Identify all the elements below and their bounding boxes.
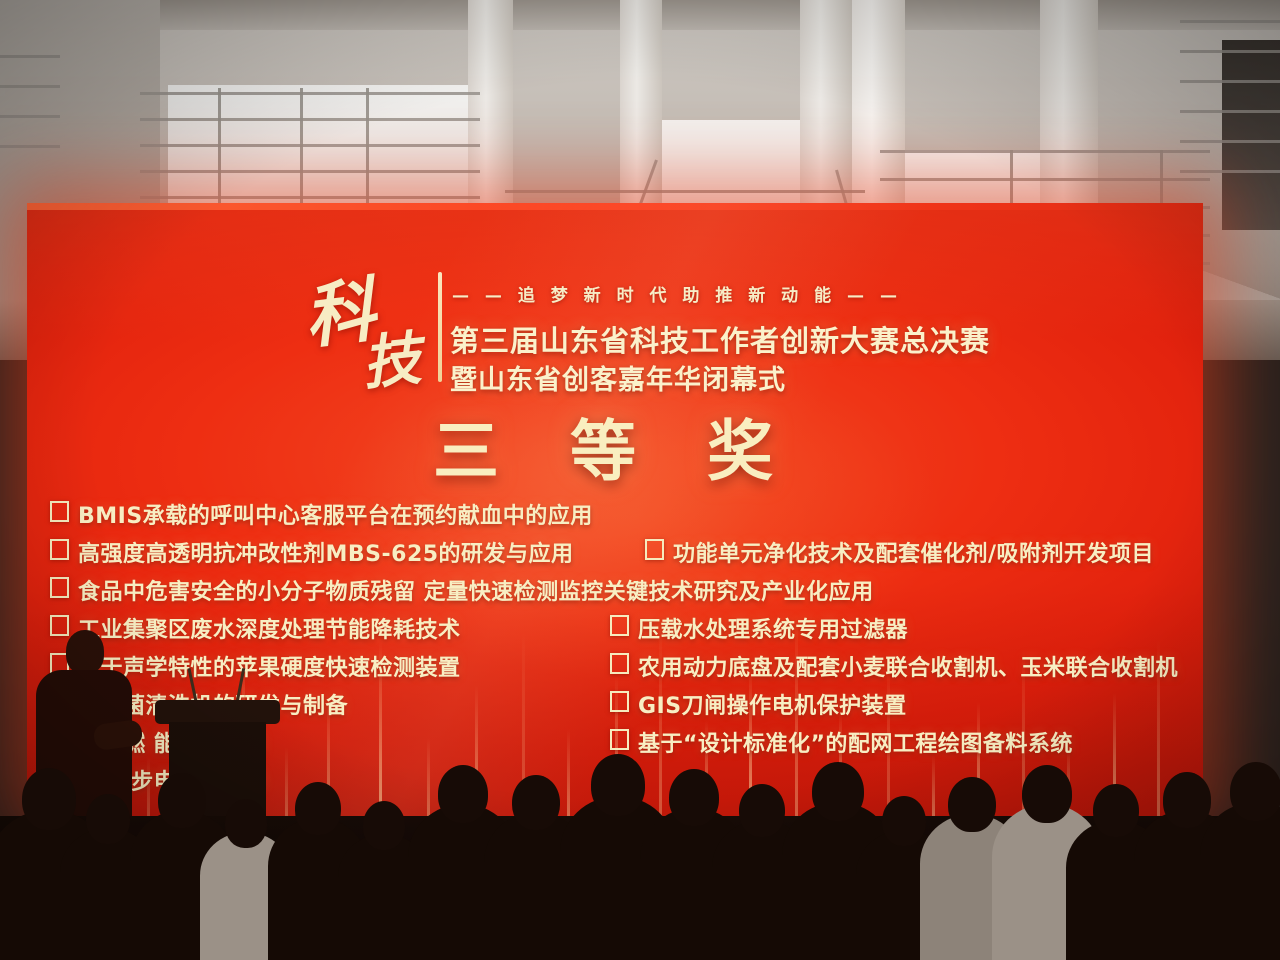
audience-head [882, 796, 926, 847]
audience-head [86, 794, 130, 845]
railing-bar [0, 55, 60, 58]
award-title: 三 等 奖 [0, 398, 1230, 494]
logo-char-ji: 技 [358, 311, 424, 401]
audience-head [363, 801, 405, 850]
railing-bar [0, 145, 60, 148]
event-title-line1: 第三届山东省科技工作者创新大赛总决赛 [450, 318, 990, 360]
project-row: BMIS承载的呼叫中心客服平台在预约献血中的应用 [50, 498, 1210, 536]
project-row: 食品中危害安全的小分子物质残留 定量快速检测监控关键技术研究及产业化应用 [50, 574, 1210, 612]
project-row: 基于声学特性的苹果硬度快速检测装置农用动力底盘及配套小麦联合收割机、玉米联合收割… [50, 650, 1210, 688]
project-item-right: GIS刀闸操作电机保护装置 [610, 688, 907, 720]
railing-bar [140, 144, 480, 147]
audience-head [669, 769, 719, 826]
audience-head [948, 777, 996, 832]
audience-head [438, 765, 489, 823]
audience-member [1200, 802, 1280, 960]
event-tagline: — — 追 梦 新 时 代 助 推 新 动 能 — — [452, 281, 902, 306]
railing-bar [1180, 140, 1280, 143]
audience-head [22, 768, 76, 830]
project-item-right: 基于“设计标准化”的配网工程绘图备料系统 [610, 726, 1073, 758]
railing-bar [140, 118, 480, 121]
railing-bar [140, 170, 480, 173]
railing-bar [1180, 110, 1280, 113]
logo-divider [438, 272, 442, 382]
stair-step [505, 190, 865, 193]
project-item-label: 基于“设计标准化”的配网工程绘图备料系统 [638, 726, 1073, 758]
event-title-line2: 暨山东省创客嘉年华闭幕式 [450, 358, 786, 397]
bullet-box-icon [610, 615, 629, 636]
railing-bar [0, 85, 60, 88]
audience-head [591, 754, 644, 815]
railing-bar [1180, 20, 1280, 23]
railing-bar [1180, 170, 1280, 173]
audience-head [295, 782, 341, 835]
podium-top [155, 700, 280, 724]
audience-head [1163, 772, 1212, 828]
presenter-head [66, 630, 104, 674]
project-item-label: BMIS承载的呼叫中心客服平台在预约献血中的应用 [78, 498, 593, 530]
railing-bar [140, 196, 480, 199]
bullet-box-icon [610, 729, 629, 750]
audience-head [225, 799, 267, 848]
railing-bar [0, 115, 60, 118]
project-item-right: 压载水处理系统专用过滤器 [610, 612, 908, 644]
audience-head [812, 762, 864, 821]
audience-head [1230, 762, 1280, 821]
photo-stage: 科 技 — — 追 梦 新 时 代 助 推 新 动 能 — — 第三届山东省科技… [0, 0, 1280, 960]
railing-bar [140, 92, 480, 95]
bullet-box-icon [50, 539, 69, 560]
audience-head [739, 784, 785, 837]
project-item-right: 功能单元净化技术及配套催化剂/吸附剂开发项目 [645, 536, 1154, 568]
project-item-left: 食品中危害安全的小分子物质残留 定量快速检测监控关键技术研究及产业化应用 [50, 574, 874, 606]
audience-head [1022, 765, 1073, 823]
project-item-label: 压载水处理系统专用过滤器 [638, 612, 908, 644]
project-row: 高强度高透明抗冲改性剂MBS-625的研发与应用功能单元净化技术及配套催化剂/吸… [50, 536, 1210, 574]
audience-head [1093, 784, 1139, 837]
bullet-box-icon [645, 539, 664, 560]
railing-bar [1180, 80, 1280, 83]
project-item-label: 农用动力底盘及配套小麦联合收割机、玉米联合收割机 [638, 650, 1178, 682]
bullet-box-icon [610, 691, 629, 712]
project-row: 工业集聚区废水深度处理节能降耗技术压载水处理系统专用过滤器 [50, 612, 1210, 650]
audience-head [158, 773, 206, 828]
bullet-box-icon [610, 653, 629, 674]
project-item-left: 高强度高透明抗冲改性剂MBS-625的研发与应用 [50, 536, 574, 568]
project-item-label: 食品中危害安全的小分子物质残留 定量快速检测监控关键技术研究及产业化应用 [78, 574, 874, 606]
audience-silhouettes [0, 760, 1280, 960]
project-item-label: 功能单元净化技术及配套催化剂/吸附剂开发项目 [673, 536, 1154, 568]
project-item-right: 农用动力底盘及配套小麦联合收割机、玉米联合收割机 [610, 650, 1178, 682]
bullet-box-icon [50, 501, 69, 522]
project-item-label: 高强度高透明抗冲改性剂MBS-625的研发与应用 [78, 536, 574, 568]
logo-calligraphy: 科 技 [300, 258, 430, 390]
audience-head [512, 775, 560, 830]
project-item-left: BMIS承载的呼叫中心客服平台在预约献血中的应用 [50, 498, 593, 530]
railing-bar [1180, 50, 1280, 53]
project-item-label: GIS刀闸操作电机保护装置 [638, 688, 907, 720]
bullet-box-icon [50, 577, 69, 598]
